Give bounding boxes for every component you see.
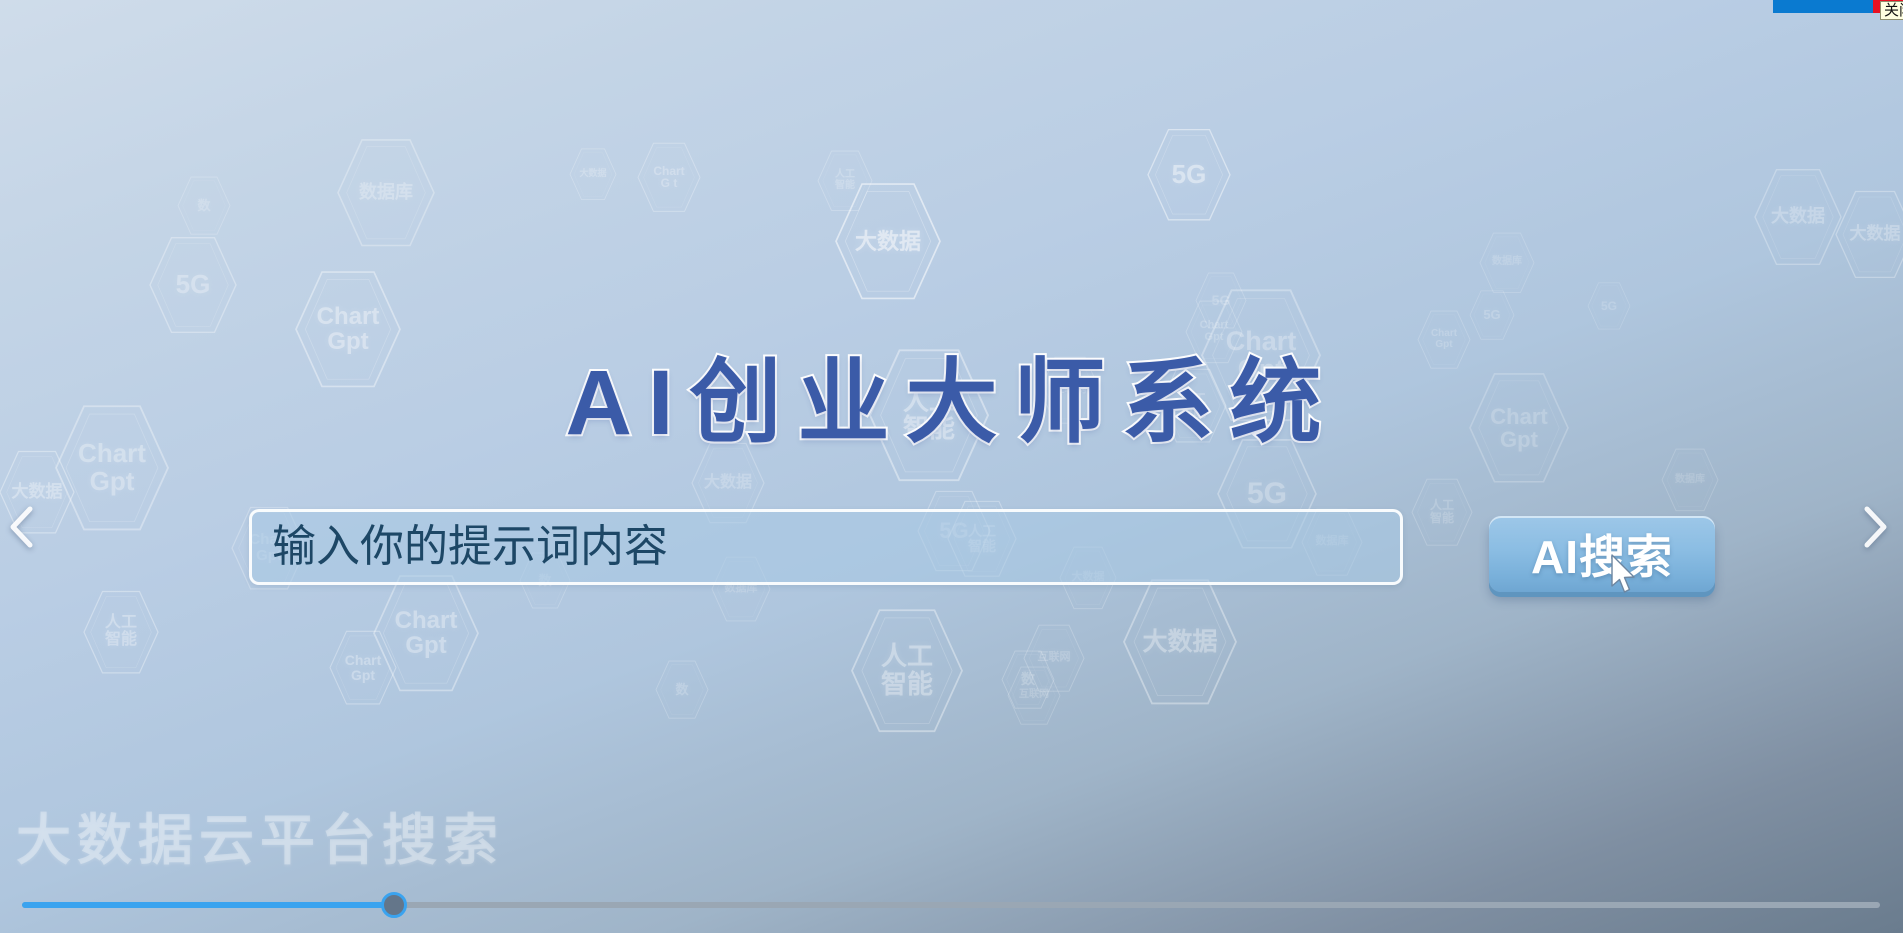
background-hexagon: 大数据: [1755, 168, 1841, 266]
background-hexagon: 大数据: [1124, 578, 1236, 706]
background-hexagon-label: 数据库: [338, 138, 434, 247]
background-hexagon: Chart Gpt: [1202, 288, 1320, 423]
background-hexagon: 互联网: [1008, 666, 1060, 725]
background-hexagon: 大数据: [836, 182, 940, 301]
background-hexagon: 大数据: [570, 148, 616, 200]
page-title: AI创业大师系统: [0, 328, 1903, 461]
background-hexagon-label: Chart Gpt: [1470, 372, 1568, 484]
chevron-left-icon: [8, 504, 36, 550]
background-hexagon: Chart Gpt: [1470, 372, 1568, 484]
slider-handle[interactable]: [381, 892, 407, 918]
background-hexagon-label: Chart G t: [638, 142, 700, 213]
chevron-right-icon: [1861, 504, 1889, 550]
background-hexagon: 5G: [1470, 290, 1514, 340]
background-hexagon: 互联网: [1024, 624, 1084, 692]
background-hexagon-label: Chart Gpt: [1186, 300, 1242, 364]
background-hexagon: 数据库: [338, 138, 434, 247]
background-hexagon: 人工 智能: [870, 348, 988, 483]
background-hexagon: 互联网: [1040, 356, 1100, 424]
background-hexagon: 5G: [1196, 272, 1246, 329]
background-hexagon-label: 数: [656, 660, 708, 719]
background-hexagon-label: 互联网: [1040, 356, 1100, 424]
ai-master-system-app: 数据库大数据Chart G t大数据人工 智能5G大数据数5G5GChart G…: [0, 0, 1903, 933]
background-hexagon: 人工 智能: [84, 590, 158, 674]
background-hexagon: 数据库: [1480, 232, 1534, 294]
background-hexagon: 人工 智能: [818, 150, 872, 212]
background-hexagon-label: 大数据: [570, 148, 616, 200]
ai-search-button[interactable]: AI搜索: [1489, 516, 1715, 592]
background-hexagon-label: 人工 智能: [870, 348, 988, 483]
background-hexagon: Chart Gpt: [1186, 300, 1242, 364]
background-hexagon-label: 数: [1002, 650, 1054, 709]
background-hexagon: 5G: [150, 236, 236, 334]
background-hexagon: 人工 智能: [1160, 368, 1226, 443]
background-watermark-text: 大数据云平台搜索: [16, 795, 504, 875]
background-hexagon-label: Chart Gpt: [296, 270, 400, 389]
background-hexagon-label: 人工 智能: [852, 608, 962, 733]
background-hexagon-label: 数据库: [1480, 232, 1534, 294]
bottom-slider[interactable]: [0, 873, 1903, 933]
carousel-next-arrow[interactable]: [1853, 497, 1897, 557]
prompt-input[interactable]: [249, 509, 1403, 585]
background-hexagon-label: 5G: [150, 236, 236, 334]
background-hexagon-label: 5G: [1148, 128, 1230, 221]
background-hexagon: 5G: [1148, 128, 1230, 221]
search-row: AI搜索: [0, 509, 1903, 589]
background-hexagon-label: 5G: [1196, 272, 1246, 329]
background-hexagon-label: 大数据: [1836, 190, 1903, 279]
background-hexagon: Chart G t: [638, 142, 700, 213]
close-tooltip-container: 关闭: [1870, 0, 1903, 20]
carousel-prev-arrow[interactable]: [0, 497, 44, 557]
background-hexagon-label: 互联网: [1008, 666, 1060, 725]
background-hexagon: Chart Gpt: [374, 574, 478, 693]
background-hexagon: 数: [656, 660, 708, 719]
slider-fill: [22, 902, 394, 908]
background-hexagon-label: 5G: [1470, 290, 1514, 340]
background-hexagon-label: 数据库: [1662, 448, 1718, 512]
background-hexagon-label: 互联网: [1024, 624, 1084, 692]
background-hexagon-label: 人工 智能: [84, 590, 158, 674]
background-hexagon-label: 5G: [1588, 282, 1630, 330]
background-hexagon: 数: [178, 176, 230, 235]
background-hexagon-label: 人工 智能: [1160, 368, 1226, 443]
background-hexagon: Chart Gpt: [330, 630, 396, 705]
background-hexagon-label: 大数据: [1124, 578, 1236, 706]
background-hexagon: Chart Gpt: [296, 270, 400, 389]
background-hexagon: Chart Gpt: [1418, 310, 1470, 369]
background-decoration: 数据库大数据Chart G t大数据人工 智能5G大数据数5G5GChart G…: [0, 0, 1903, 933]
background-hexagon: 5G: [1588, 282, 1630, 330]
slider-track[interactable]: [22, 902, 1880, 908]
background-hexagon: 数: [1002, 650, 1054, 709]
background-hexagon-label: Chart Gpt: [1202, 288, 1320, 423]
background-hexagon-label: Chart Gpt: [374, 574, 478, 693]
background-hexagon-label: Chart Gpt: [1418, 310, 1470, 369]
background-hexagon: 大数据: [1836, 190, 1903, 279]
background-hexagon-label: 大数据: [836, 182, 940, 301]
background-hexagon: 数据库: [1662, 448, 1718, 512]
background-hexagon-label: 数: [178, 176, 230, 235]
background-hexagon: 人工 智能: [852, 608, 962, 733]
background-hexagon-label: Chart Gpt: [330, 630, 396, 705]
background-hexagon-label: 人工 智能: [818, 150, 872, 212]
window-titlebar-strip: [1773, 0, 1873, 13]
background-hexagon-label: 大数据: [1755, 168, 1841, 266]
close-tooltip-text: 关闭: [1880, 1, 1903, 20]
